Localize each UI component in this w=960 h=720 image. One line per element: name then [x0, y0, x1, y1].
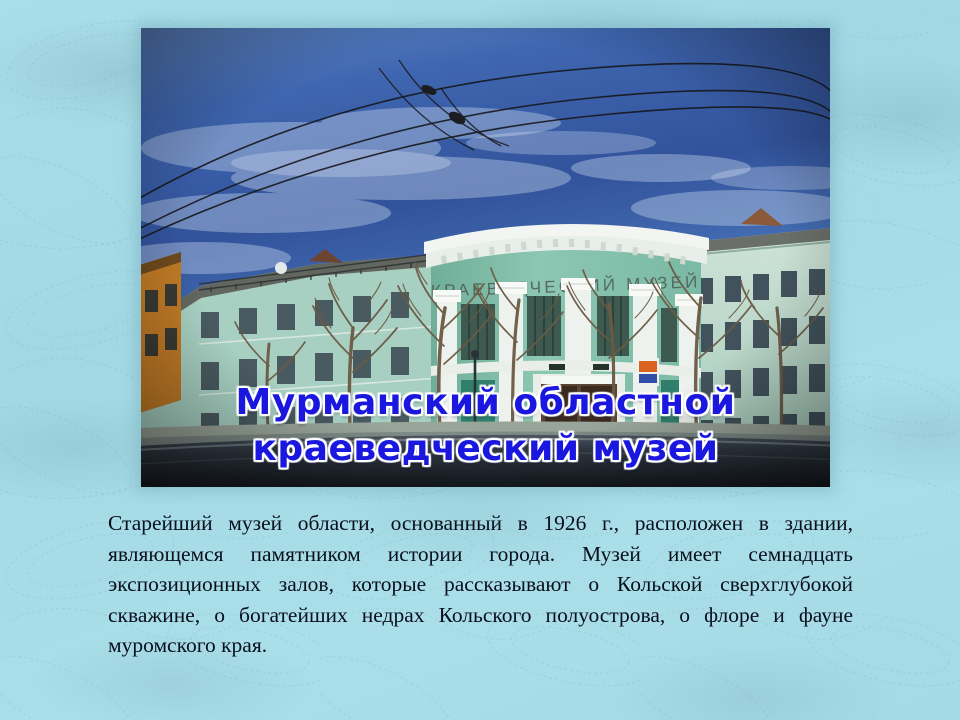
slide-background: КРАЕВЕДЧЕСКИЙ МУЗЕЙ	[0, 0, 960, 720]
museum-photo: КРАЕВЕДЧЕСКИЙ МУЗЕЙ	[141, 28, 830, 487]
description-block: Старейший музей области, основанный в 19…	[108, 508, 853, 661]
description-paragraph: Старейший музей области, основанный в 19…	[108, 508, 853, 661]
